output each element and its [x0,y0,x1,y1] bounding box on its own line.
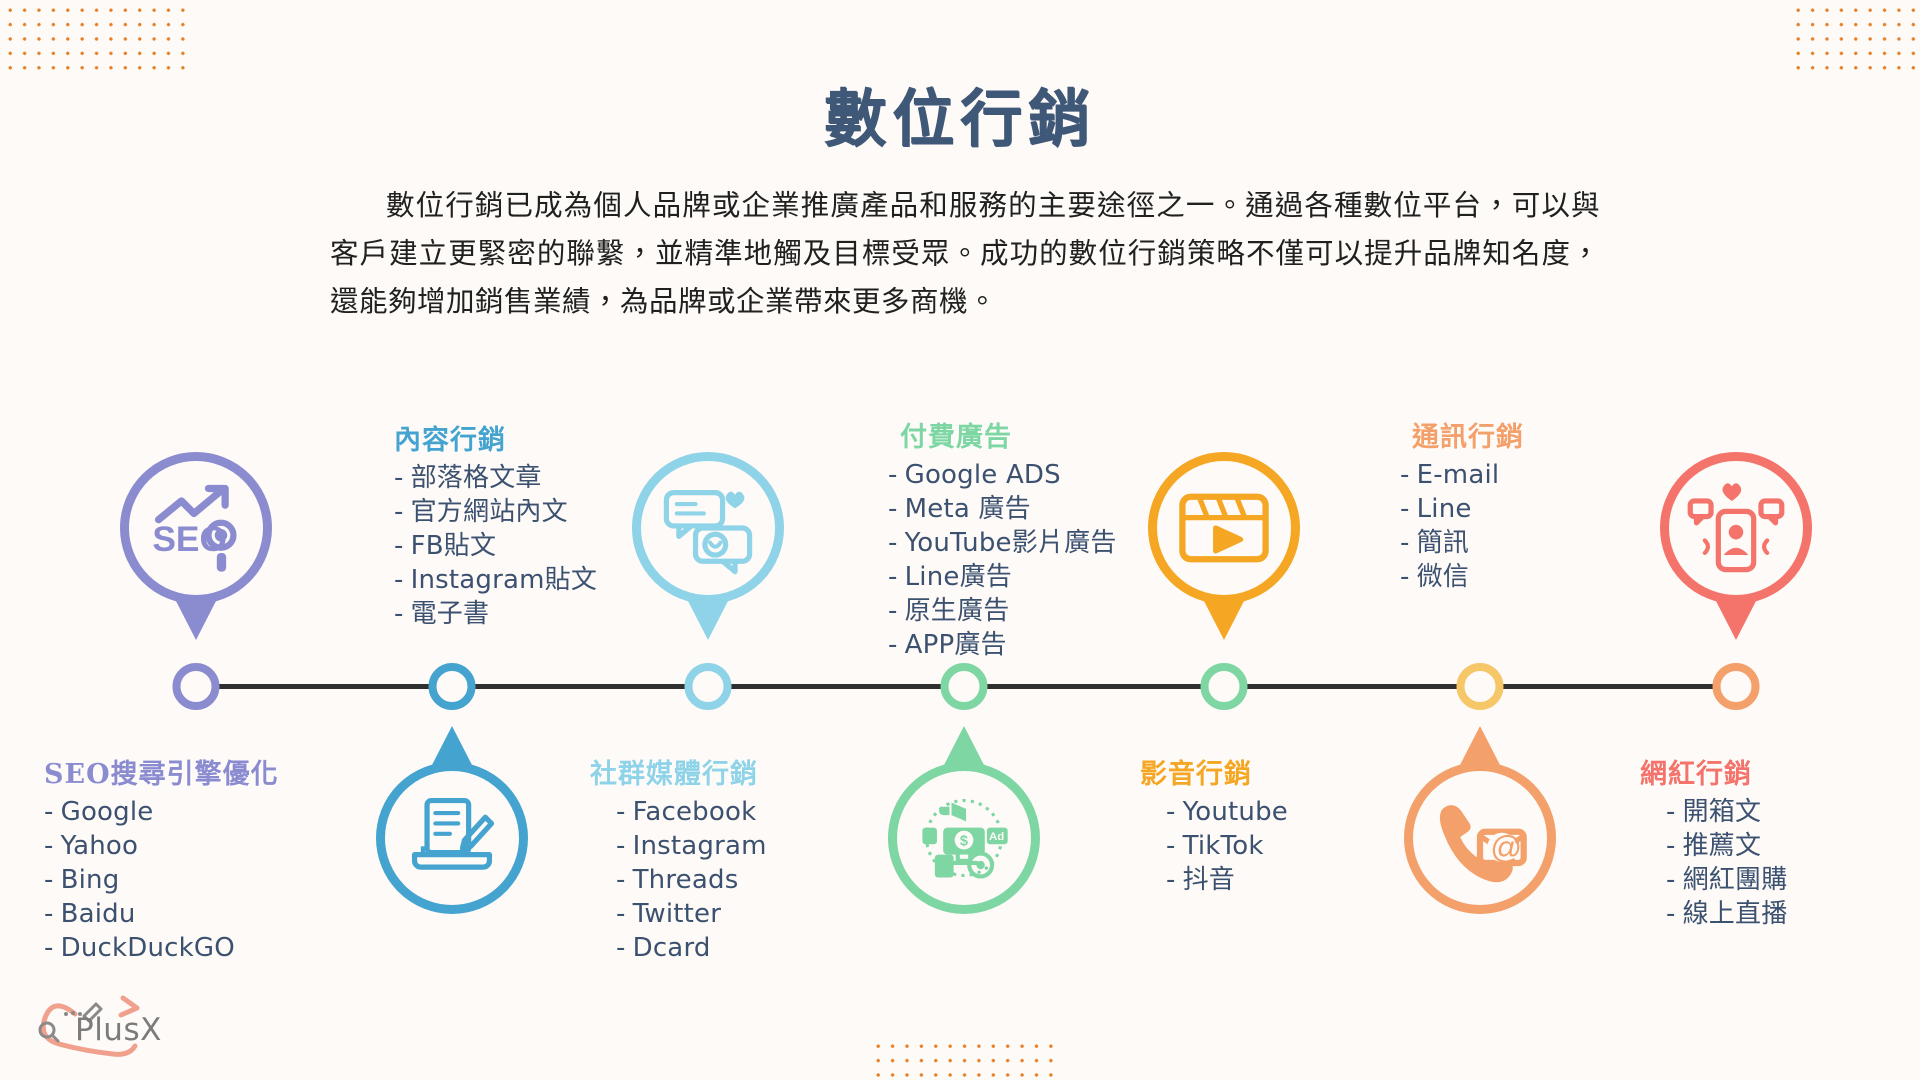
timeline-node-content[interactable] [429,663,476,710]
list-item-label: 網紅團購 [1683,865,1788,895]
timeline-node-messaging[interactable] [1713,663,1760,710]
block-seo: SEO搜尋引擎優化 -Google-Yahoo-Bing-Baidu-DuckD… [44,752,279,965]
block-seo-heading: SEO搜尋引擎優化 [44,752,279,791]
svg-text:$: $ [960,833,968,849]
block-paid-ads-heading: 付費廣告 [888,415,1117,454]
list-item: -Google [44,795,279,829]
list-dash: - [1400,528,1410,558]
block-influencer-list: -開箱文-推薦文-網紅團購-線上直播 [1640,795,1787,931]
list-dash: - [44,797,54,827]
block-video-heading: 影音行銷 [1140,752,1288,791]
list-item-label: 微信 [1417,562,1469,592]
list-dash: - [44,933,54,963]
list-dash: - [1400,494,1410,524]
page-title: 數位行銷 [0,68,1920,158]
list-item-label: 推薦文 [1683,831,1762,861]
list-dash: - [888,494,898,524]
pin-paid-ads[interactable] [1148,452,1300,640]
list-item: -Instagram [616,829,767,863]
list-item: -DuckDuckGO [44,931,279,965]
list-dash: - [888,528,898,558]
list-dash: - [616,797,626,827]
block-content-heading: 內容行銷 [368,418,597,457]
list-dash: - [1666,865,1676,895]
pin-social[interactable]: $ Ad [888,726,1040,914]
block-influencer-heading: 網紅行銷 [1640,752,1787,791]
pin-seo[interactable]: SEO [120,452,272,640]
list-dash: - [394,599,404,629]
list-item: -簡訊 [1400,526,1524,560]
list-item: -原生廣告 [888,594,1117,628]
pin-content[interactable] [632,452,784,640]
list-item: -Threads [616,863,767,897]
timeline-node-social[interactable] [685,663,732,710]
dot-pattern-bottom-center-icon [868,1036,1058,1080]
list-item-label: YouTube影片廣告 [905,528,1117,558]
svg-text:@: @ [1490,830,1522,865]
block-paid-ads: 付費廣告 -Google ADS-Meta 廣告-YouTube影片廣告-Lin… [888,415,1117,662]
list-item: -Meta 廣告 [888,492,1117,526]
list-item: -Baidu [44,897,279,931]
list-item: -FB貼文 [394,529,597,563]
list-item: -電子書 [394,597,597,631]
list-item: -Line廣告 [888,560,1117,594]
block-social: 社群媒體行銷 -Facebook-Instagram-Threads-Twitt… [590,752,767,965]
list-dash: - [616,865,626,895]
infographic-page: 數位行銷 數位行銷已成為個人品牌或企業推廣產品和服務的主要途徑之一。通過各種數位… [0,0,1920,1080]
list-item-label: Google [61,797,154,827]
list-item: -APP廣告 [888,628,1117,662]
list-dash: - [44,899,54,929]
block-messaging: 通訊行銷 -E-mail-Line-簡訊-微信 [1400,415,1524,594]
block-paid-ads-list: -Google ADS-Meta 廣告-YouTube影片廣告-Line廣告-原… [888,458,1117,662]
list-dash: - [44,831,54,861]
list-dash: - [1166,831,1176,861]
list-item: -線上直播 [1666,897,1787,931]
block-seo-list: -Google-Yahoo-Bing-Baidu-DuckDuckGO [44,795,279,965]
list-dash: - [1666,899,1676,929]
list-dash: - [394,565,404,595]
list-item-label: Google ADS [905,460,1061,490]
list-item-label: 官方網站內文 [411,497,568,527]
list-item-label: DuckDuckGO [61,933,235,963]
list-dash: - [888,630,898,660]
list-item-label: Twitter [633,899,722,929]
list-dash: - [394,463,404,493]
dot-pattern-top-right-icon [1788,0,1920,72]
pin-messaging-icon[interactable]: @ [1404,726,1556,914]
list-dash: - [1400,460,1410,490]
phone-person-chat-icon [1660,452,1812,604]
list-item: -Line [1400,492,1524,526]
block-messaging-heading: 通訊行銷 [1400,415,1524,454]
list-dash: - [394,497,404,527]
block-video: 影音行銷 -Youtube-TikTok-抖音 [1140,752,1288,897]
dot-pattern-top-left-icon [0,0,186,72]
list-item: -部落格文章 [394,461,597,495]
list-dash: - [1400,562,1410,592]
list-item-label: Facebook [633,797,757,827]
list-item-label: Line [1417,494,1472,524]
pin-messaging[interactable] [1660,452,1812,640]
list-dash: - [616,899,626,929]
timeline-node-video-mint[interactable] [1201,663,1248,710]
list-dash: - [1166,865,1176,895]
list-item: -Google ADS [888,458,1117,492]
list-item: -微信 [1400,560,1524,594]
list-item-label: TikTok [1183,831,1264,861]
list-item-label: Yahoo [61,831,139,861]
list-dash: - [888,460,898,490]
logo-wordmark: PlusX [75,1012,162,1048]
list-item: -開箱文 [1666,795,1787,829]
list-item: -E-mail [1400,458,1524,492]
list-item: -Facebook [616,795,767,829]
chat-bubbles-heart-icon [632,452,784,604]
phone-envelope-at-icon: @ [1404,762,1556,914]
list-item: -Bing [44,863,279,897]
list-dash: - [888,562,898,592]
list-item-label: Instagram貼文 [411,565,597,595]
list-item-label: 抖音 [1183,865,1235,895]
list-dash: - [616,933,626,963]
list-dash: - [888,596,898,626]
document-laptop-pen-icon [376,762,528,914]
block-content: 內容行銷 -部落格文章-官方網站內文-FB貼文-Instagram貼文-電子書 [368,418,597,631]
block-social-list: -Facebook-Instagram-Threads-Twitter-Dcar… [590,795,767,965]
list-item-label: 部落格文章 [411,463,542,493]
list-dash: - [1666,797,1676,827]
list-item-label: 開箱文 [1683,797,1762,827]
list-dash: - [1666,831,1676,861]
ads-monitor-megaphone-icon: $ Ad [888,762,1040,914]
list-item-label: APP廣告 [905,630,1007,660]
list-item: -Youtube [1166,795,1288,829]
list-item-label: E-mail [1417,460,1500,490]
list-item: -抖音 [1166,863,1288,897]
list-item-label: Dcard [633,933,711,963]
list-dash: - [44,865,54,895]
list-item: -YouTube影片廣告 [888,526,1117,560]
list-item-label: Youtube [1183,797,1288,827]
block-influencer: 網紅行銷 -開箱文-推薦文-網紅團購-線上直播 [1640,752,1787,931]
plusx-logo[interactable]: PlusX [20,988,170,1072]
list-item: -推薦文 [1666,829,1787,863]
list-item-label: 線上直播 [1683,899,1788,929]
block-messaging-list: -E-mail-Line-簡訊-微信 [1400,458,1524,594]
block-video-list: -Youtube-TikTok-抖音 [1140,795,1288,897]
list-dash: - [394,531,404,561]
list-item: -Dcard [616,931,767,965]
list-item-label: Line廣告 [905,562,1012,592]
list-item-label: Bing [61,865,120,895]
list-dash: - [1166,797,1176,827]
timeline-node-paid-ads[interactable] [941,663,988,710]
list-item: -Instagram貼文 [394,563,597,597]
list-item-label: Meta 廣告 [905,494,1031,524]
list-dash: - [616,831,626,861]
list-item-label: FB貼文 [411,531,497,561]
video-play-clapperboard-icon [1148,452,1300,604]
list-item-label: Threads [633,865,739,895]
block-content-list: -部落格文章-官方網站內文-FB貼文-Instagram貼文-電子書 [368,461,597,631]
timeline-node-seo[interactable] [173,663,220,710]
list-item-label: 簡訊 [1417,528,1469,558]
list-item: -TikTok [1166,829,1288,863]
list-item: -網紅團購 [1666,863,1787,897]
list-item-label: 原生廣告 [905,596,1010,626]
list-item: -Twitter [616,897,767,931]
svg-text:Ad: Ad [989,831,1004,843]
list-item-label: 電子書 [411,599,490,629]
timeline-node-video[interactable] [1457,663,1504,710]
list-item-label: Baidu [61,899,136,929]
intro-paragraph: 數位行銷已成為個人品牌或企業推廣產品和服務的主要途徑之一。通過各種數位平台，可以… [330,182,1600,326]
block-social-heading: 社群媒體行銷 [590,752,767,791]
list-item: -官方網站內文 [394,495,597,529]
seo-chart-magnifier-icon: SEO [120,452,272,604]
list-item-label: Instagram [633,831,767,861]
pin-content-icon[interactable] [376,726,528,914]
list-item: -Yahoo [44,829,279,863]
